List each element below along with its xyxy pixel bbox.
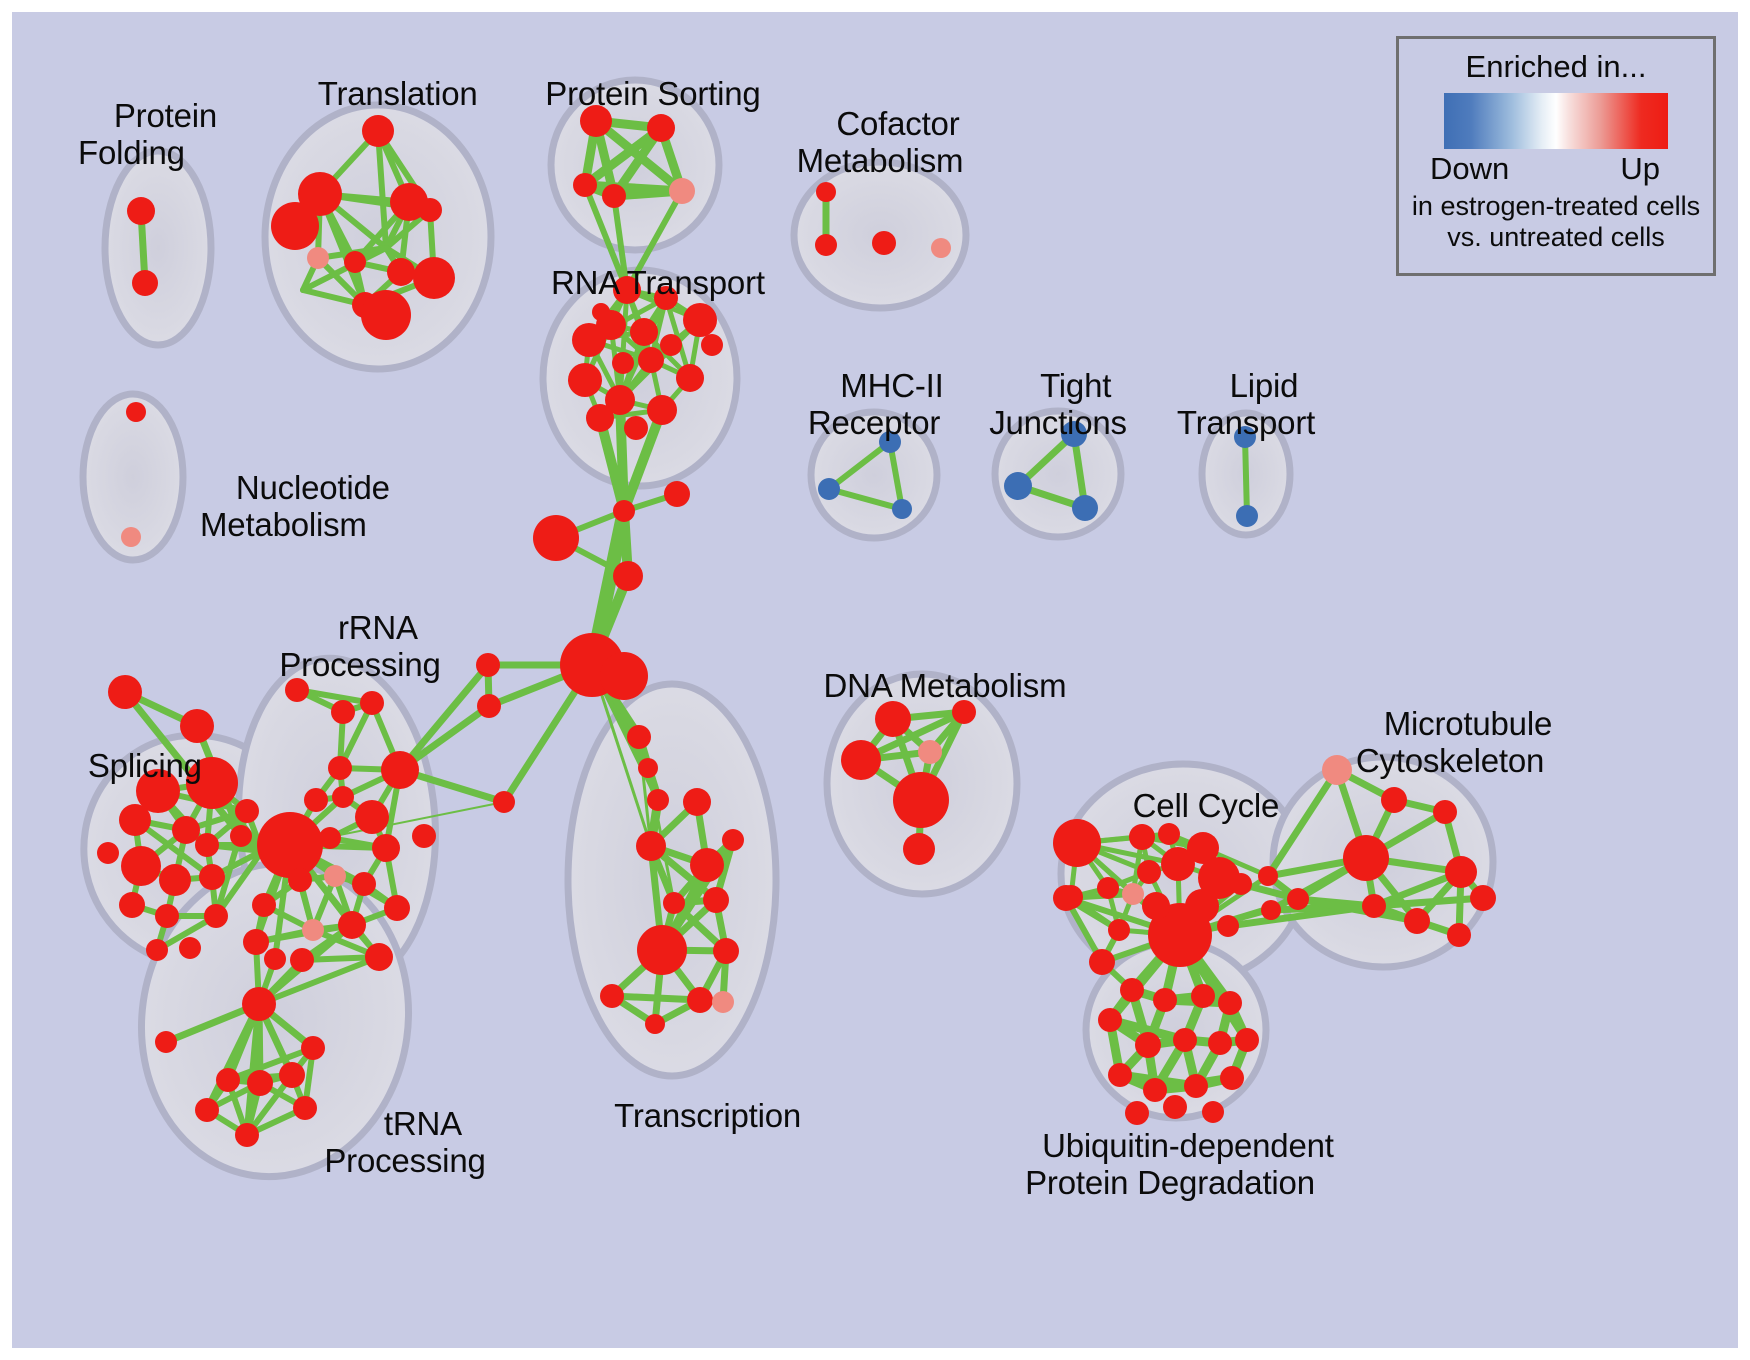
cluster-label-tight-junctions: TightJunctions [948,330,1168,478]
cluster-label-lipid-transport: LipidTransport [1136,330,1356,478]
cluster-label-splicing: Splicing [52,710,272,821]
cluster-label-transcription: Transcription [540,1060,840,1171]
legend-title: Enriched in... [1399,49,1713,85]
figure-canvas: ProteinFolding Translation Protein Sorti… [0,0,1750,1360]
legend-down-label: Down [1430,151,1509,187]
cluster-label-trna-processing: tRNAProcessing [290,1068,520,1216]
legend-box: Enriched in... Down Up in estrogen-treat… [1396,36,1716,276]
cluster-label-nucleotide-metabolism: NucleotideMetabolism [200,432,520,580]
legend-color-gradient [1444,93,1668,149]
cluster-label-microtubule-cytoskeleton: MicrotubuleCytoskeleton [1300,668,1600,816]
cluster-label-rna-transport: RNA Transport [475,227,805,338]
legend-subtitle-line2: vs. untreated cells [1399,222,1713,253]
cluster-label-dna-metabolism: DNA Metabolism [782,630,1072,741]
cluster-label-rrna-processing: rRNAProcessing [245,572,475,720]
legend-up-label: Up [1620,151,1660,187]
legend-endpoints: Down Up [1426,151,1686,191]
cluster-label-cell-cycle: Cell Cycle [1068,750,1308,861]
cluster-label-ubiquitin-protein-degradation: Ubiquitin-dependentProtein Degradation [960,1090,1380,1238]
legend-subtitle-line1: in estrogen-treated cells [1399,191,1713,222]
cluster-label-cofactor-metabolism: CofactorMetabolism [740,68,1020,216]
